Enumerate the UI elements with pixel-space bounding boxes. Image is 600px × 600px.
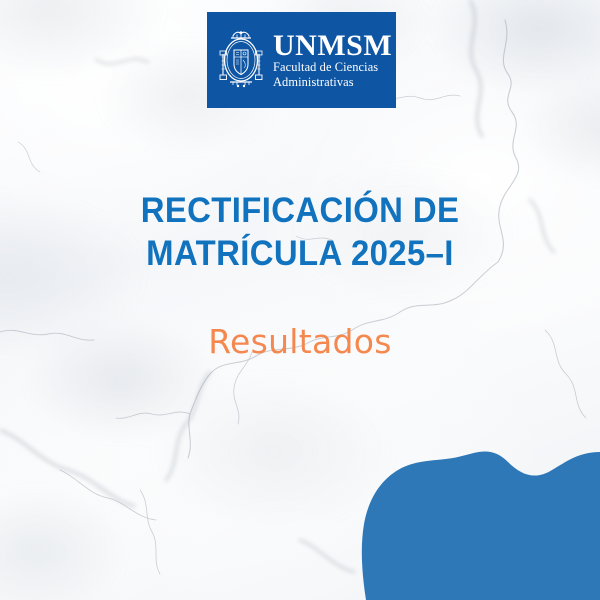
logo-faculty-line2: Administrativas xyxy=(273,76,392,90)
logo-text-block: UNMSM Facultad de Ciencias Administrativ… xyxy=(273,30,392,90)
logo-faculty-line1: Facultad de Ciencias xyxy=(273,61,392,75)
subtitle: Resultados xyxy=(0,322,600,361)
poster-canvas: UNMSM Facultad de Ciencias Administrativ… xyxy=(0,0,600,600)
headline: RECTIFICACIÓN DE MATRÍCULA 2025–I xyxy=(18,190,582,275)
unmsm-logo-banner: UNMSM Facultad de Ciencias Administrativ… xyxy=(207,12,396,108)
unmsm-coat-of-arms-icon xyxy=(216,29,266,91)
headline-line-1: RECTIFICACIÓN DE xyxy=(18,190,582,233)
headline-line-2: MATRÍCULA 2025–I xyxy=(18,233,582,276)
logo-acronym: UNMSM xyxy=(273,31,392,60)
